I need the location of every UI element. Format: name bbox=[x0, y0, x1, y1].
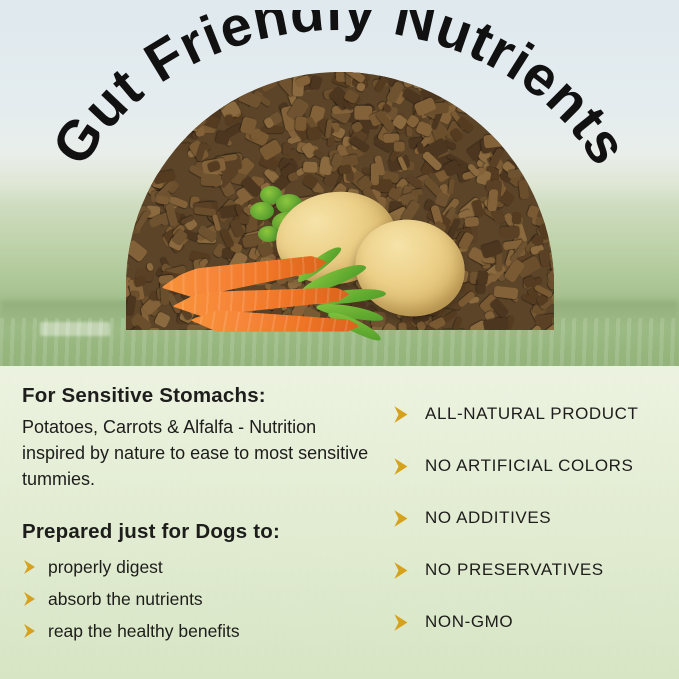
feature-label: NON-GMO bbox=[425, 612, 513, 632]
features-list: ALL-NATURAL PRODUCT NO ARTIFICIAL COLORS… bbox=[392, 388, 669, 648]
feature-label: NO ARTIFICIAL COLORS bbox=[425, 456, 634, 476]
info-panel: For Sensitive Stomachs: Potatoes, Carrot… bbox=[0, 366, 679, 679]
list-item: ALL-NATURAL PRODUCT bbox=[392, 388, 669, 440]
headline-curved: Gut Friendly Nutrients bbox=[0, 10, 679, 300]
list-item: NO ADDITIVES bbox=[392, 492, 669, 544]
list-item: NO ARTIFICIAL COLORS bbox=[392, 440, 669, 492]
arrow-icon bbox=[392, 405, 411, 424]
arrow-icon bbox=[392, 613, 411, 632]
arrow-icon bbox=[392, 509, 411, 528]
paragraph-nutrition: Potatoes, Carrots & Alfalfa - Nutrition … bbox=[22, 414, 382, 492]
arrow-icon bbox=[22, 591, 38, 607]
right-column: ALL-NATURAL PRODUCT NO ARTIFICIAL COLORS… bbox=[392, 366, 679, 679]
feature-label: NO ADDITIVES bbox=[425, 508, 551, 528]
bullet-label: absorb the nutrients bbox=[48, 584, 203, 614]
hero-background: Gut Friendly Nutrients bbox=[0, 0, 679, 366]
list-item: properly digest bbox=[22, 552, 382, 582]
headline-text: Gut Friendly Nutrients bbox=[39, 10, 640, 175]
list-item: NO PRESERVATIVES bbox=[392, 544, 669, 596]
benefits-list: properly digest absorb the nutrients rea… bbox=[22, 552, 382, 646]
product-infographic: Gut Friendly Nutrients For Sensitive Sto… bbox=[0, 0, 679, 679]
list-item: NON-GMO bbox=[392, 596, 669, 648]
heading-sensitive-stomachs: For Sensitive Stomachs: bbox=[22, 384, 382, 408]
feature-label: NO PRESERVATIVES bbox=[425, 560, 604, 580]
arrow-icon bbox=[22, 559, 38, 575]
bullet-label: properly digest bbox=[48, 552, 163, 582]
arrow-icon bbox=[392, 457, 411, 476]
list-item: absorb the nutrients bbox=[22, 584, 382, 614]
left-column: For Sensitive Stomachs: Potatoes, Carrot… bbox=[0, 366, 392, 679]
feature-label: ALL-NATURAL PRODUCT bbox=[425, 404, 639, 424]
list-item: reap the healthy benefits bbox=[22, 616, 382, 646]
bullet-label: reap the healthy benefits bbox=[48, 616, 240, 646]
arrow-icon bbox=[392, 561, 411, 580]
arrow-icon bbox=[22, 623, 38, 639]
heading-prepared-for-dogs: Prepared just for Dogs to: bbox=[22, 520, 382, 544]
